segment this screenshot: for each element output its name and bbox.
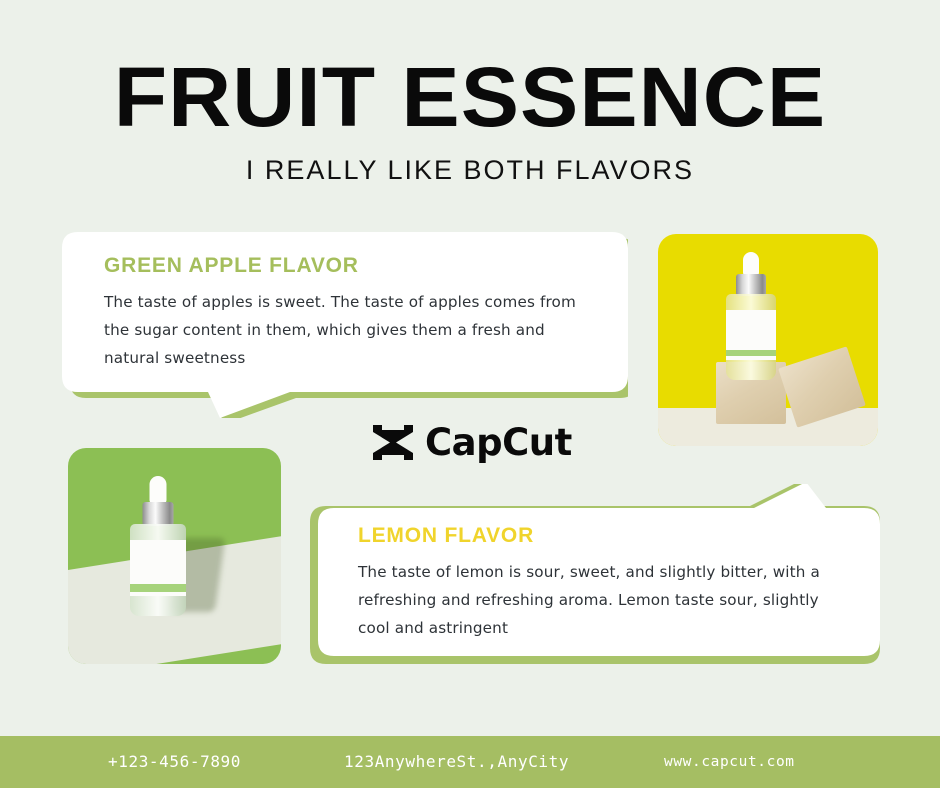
capcut-logo: CapCut xyxy=(372,423,572,462)
lemon-product-photo xyxy=(658,234,878,446)
bottle-dropper-tip xyxy=(150,476,167,504)
serum-bottle xyxy=(726,252,776,380)
bottle-metal-collar xyxy=(736,274,766,296)
serum-bottle xyxy=(130,476,186,614)
lemon-card: LEMON FLAVOR The taste of lemon is sour,… xyxy=(310,484,880,664)
page-title: FRUIT ESSENCE xyxy=(0,55,940,139)
footer-address: 123AnywhereSt.,AnyCity xyxy=(344,752,569,772)
bottle-label-stripe xyxy=(130,584,186,592)
green-apple-card-body: The taste of apples is sweet. The taste … xyxy=(104,288,594,372)
poster-canvas: FRUIT ESSENCE I REALLY LIKE BOTH FLAVORS… xyxy=(0,0,940,788)
footer-phone[interactable]: +123-456-7890 xyxy=(108,752,241,772)
green-apple-card-content: GREEN APPLE FLAVOR The taste of apples i… xyxy=(104,254,594,372)
green-apple-card-heading: GREEN APPLE FLAVOR xyxy=(104,254,594,278)
page-subtitle: I REALLY LIKE BOTH FLAVORS xyxy=(0,155,940,185)
capcut-mark-icon xyxy=(372,423,414,462)
bottle-label-stripe xyxy=(726,350,776,356)
capcut-wordmark: CapCut xyxy=(425,424,572,461)
footer-website[interactable]: www.capcut.com xyxy=(664,752,795,772)
lemon-card-heading: LEMON FLAVOR xyxy=(358,524,853,548)
apple-product-photo xyxy=(68,448,281,664)
bottle-dropper-tip xyxy=(743,252,759,276)
lemon-card-body: The taste of lemon is sour, sweet, and s… xyxy=(358,558,853,642)
footer-bar: +123-456-7890 123AnywhereSt.,AnyCity www… xyxy=(0,736,940,788)
green-apple-card: GREEN APPLE FLAVOR The taste of apples i… xyxy=(62,232,628,418)
bottle-metal-collar xyxy=(143,502,174,526)
lemon-card-content: LEMON FLAVOR The taste of lemon is sour,… xyxy=(358,524,853,642)
